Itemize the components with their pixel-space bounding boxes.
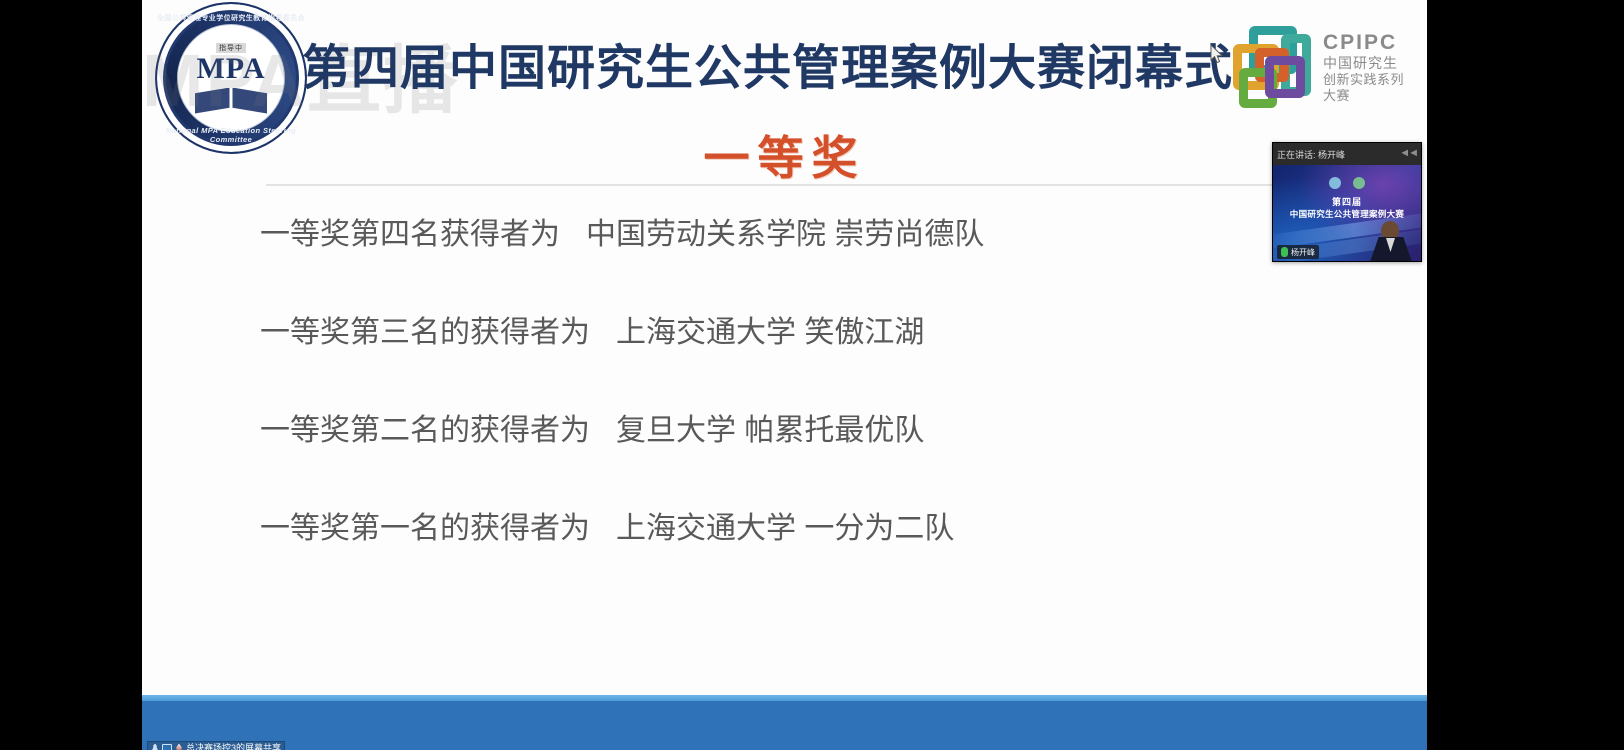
speaker-video-panel[interactable]: 正在讲话: 杨开峰 ◄◄ 第四届 中国研究生公共管理案例大赛 杨开峰 [1272,142,1422,262]
mpa-inner-disc: 指导中 MPA [177,24,285,132]
letterbox-left [0,0,142,750]
mpa-acronym: MPA [196,54,265,84]
cpipc-acronym: CPIPC [1323,31,1409,54]
award-line: 一等奖第三名的获得者为上海交通大学 笑傲江湖 [260,316,1310,349]
cpipc-line2: 创新实践系列大赛 [1323,72,1409,105]
video-feed[interactable]: 第四届 中国研究生公共管理案例大赛 杨开峰 [1273,165,1421,262]
open-book-icon [195,88,267,114]
screen-share-icon [162,744,172,750]
award-org: 复旦大学 帕累托最优队 [616,414,924,447]
video-panel-header[interactable]: 正在讲话: 杨开峰 ◄◄ [1273,143,1421,165]
award-list: 一等奖第四名获得者为中国劳动关系学院 崇劳尚德队 一等奖第三名的获得者为上海交通… [260,218,1310,610]
award-org: 上海交通大学 一分为二队 [616,512,954,545]
title-divider [266,184,1306,186]
shared-screen-stage: 全国公共管理专业学位研究生教育指导委员会 指导中 MPA National MP… [142,0,1427,750]
award-prefix: 一等奖第三名的获得者为 [260,316,590,349]
microphone-icon [1281,247,1288,257]
award-org: 上海交通大学 笑傲江湖 [616,316,924,349]
speaker-name-badge: 杨开峰 [1277,245,1319,259]
award-prefix: 一等奖第一名的获得者为 [260,512,590,545]
award-prefix: 一等奖第四名获得者为 [260,218,560,251]
speaker-name: 杨开峰 [1291,247,1315,258]
flame-icon [175,744,183,750]
cpipc-logo: CPIPC 中国研究生 创新实践系列大赛 [1229,12,1409,124]
letterbox-right [1427,0,1624,750]
award-line: 一等奖第一名的获得者为上海交通大学 一分为二队 [260,512,1310,545]
taskbar-item-screen-share[interactable]: 总决赛场控3的屏幕共享 [147,741,285,750]
mpa-mini-label: 指导中 [216,43,246,53]
taskbar-item-label: 总决赛场控3的屏幕共享 [186,744,281,750]
award-line: 一等奖第二名的获得者为复旦大学 帕累托最优队 [260,414,1310,447]
stage-emblems [1273,177,1421,189]
user-icon [151,744,159,750]
cpipc-text-block: CPIPC 中国研究生 创新实践系列大赛 [1323,31,1409,104]
award-heading: 一等奖 [142,122,1427,188]
cpipc-mark-icon [1229,22,1317,114]
award-line: 一等奖第四名获得者为中国劳动关系学院 崇劳尚德队 [260,218,1310,251]
mpa-ring-top-text: 全国公共管理专业学位研究生教育指导委员会 [157,13,305,23]
video-slide-line1: 第四届 [1273,195,1421,208]
active-speaker-label: 正在讲话: 杨开峰 [1277,148,1345,161]
desktop-background: 总决赛场控3的屏幕共享 [142,701,1427,750]
award-prefix: 一等奖第二名的获得者为 [260,414,590,447]
award-org: 中国劳动关系学院 崇劳尚德队 [586,218,984,251]
mouse-pointer-icon [1210,44,1224,64]
slide-title: 第四届中国研究生公共管理案例大赛闭幕式 [302,38,1202,100]
video-slide-line2: 中国研究生公共管理案例大赛 [1273,208,1421,220]
cpipc-line1: 中国研究生 [1323,55,1409,73]
presentation-slide: 全国公共管理专业学位研究生教育指导委员会 指导中 MPA National MP… [142,0,1427,695]
speaker-silhouette [1369,221,1413,262]
chevron-collapse-icon[interactable]: ◄◄ [1399,148,1417,159]
